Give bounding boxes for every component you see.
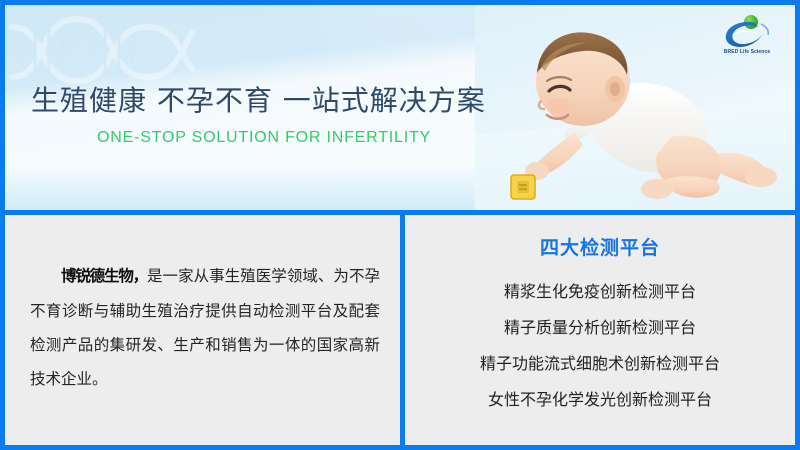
logo-wordmark: BRED Life Science [711, 49, 783, 55]
platforms-heading: 四大检测平台 [419, 233, 781, 260]
slide-root: BRED Life Science 生殖健康 不孕不育 一站式解决方案 ONE-… [0, 0, 800, 450]
platform-item: 精子功能流式细胞术创新检测平台 [419, 346, 781, 382]
content-panels: 博锐德生物，是一家从事生殖医学领域、为不孕不育诊断与辅助生殖治疗提供自动检测平台… [5, 210, 795, 445]
company-description: 博锐德生物，是一家从事生殖医学领域、为不孕不育诊断与辅助生殖治疗提供自动检测平台… [30, 259, 380, 396]
hero-banner: BRED Life Science 生殖健康 不孕不育 一站式解决方案 ONE-… [5, 5, 795, 210]
bred-swoosh-logo-icon [711, 13, 783, 49]
toy-block-icon [511, 175, 535, 199]
platforms-panel: 四大检测平台 精浆生化免疫创新检测平台 精子质量分析创新检测平台 精子功能流式细… [405, 215, 795, 445]
page-title: 生殖健康 不孕不育 一站式解决方案 [31, 79, 486, 119]
company-intro-panel: 博锐德生物，是一家从事生殖医学领域、为不孕不育诊断与辅助生殖治疗提供自动检测平台… [10, 215, 400, 445]
platform-item: 精浆生化免疫创新检测平台 [419, 274, 781, 310]
brand-logo: BRED Life Science [711, 13, 783, 59]
company-name: 博锐德生物， [61, 268, 147, 285]
platform-item: 女性不孕化学发光创新检测平台 [419, 382, 781, 418]
platform-item: 精子质量分析创新检测平台 [419, 310, 781, 346]
page-subtitle: ONE-STOP SOLUTION FOR INFERTILITY [97, 129, 431, 147]
